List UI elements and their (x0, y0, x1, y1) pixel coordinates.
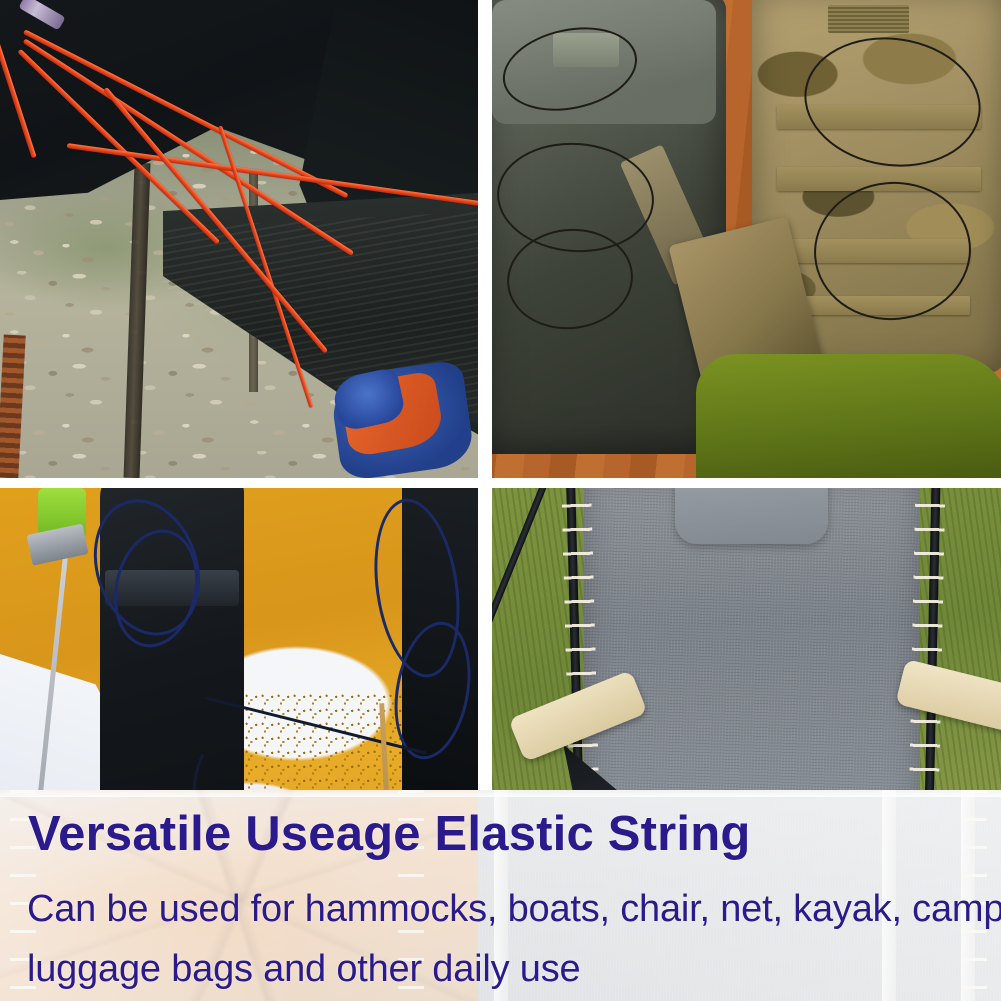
product-banner: Versatile Useage Elastic String Can be u… (0, 0, 1001, 1001)
banner-subline-second: luggage bags and other daily use (27, 948, 580, 991)
banner-headline: Versatile Useage Elastic String (28, 806, 751, 862)
banner-subline-first: Can be used for hammocks, boats, chair, … (27, 888, 1001, 931)
caption-text-group: Versatile Useage Elastic String Can be u… (0, 0, 1001, 1001)
